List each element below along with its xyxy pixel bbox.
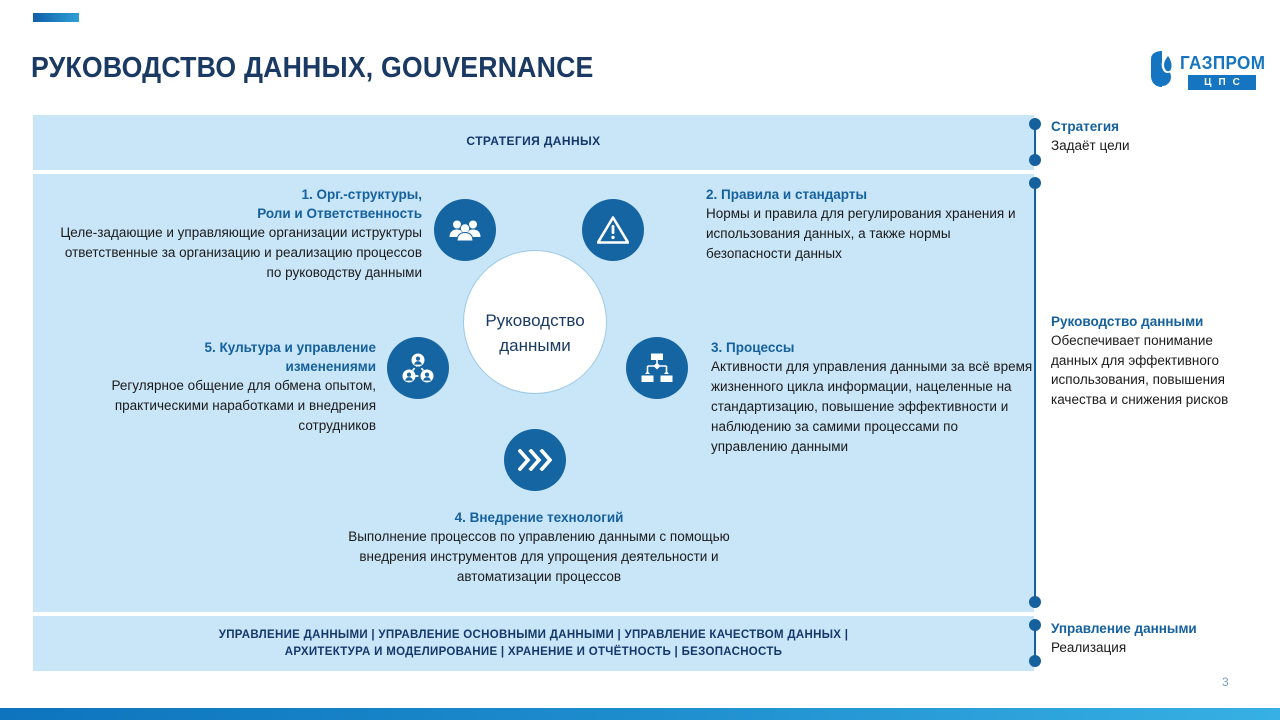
legend-governance-body: Обеспечивает понимание данных для эффект… — [1051, 331, 1261, 409]
management-band-line1: УПРАВЛЕНИЕ ДАННЫМИ | УПРАВЛЕНИЕ ОСНОВНЫМ… — [219, 629, 849, 641]
legend-strategy: Стратегия Задаёт цели — [1051, 118, 1261, 156]
rail-dot-top — [1029, 118, 1041, 130]
section-rules-standards-body: Нормы и правила для регулирования хранен… — [706, 204, 1036, 264]
legend-management-title: Управление данными — [1051, 620, 1261, 638]
rail-strategy — [1028, 118, 1042, 166]
core-label-line2: данными — [499, 336, 571, 355]
legend-strategy-title: Стратегия — [1051, 118, 1261, 136]
legend-management-body: Реализация — [1051, 638, 1261, 658]
warning-triangle-icon — [597, 216, 629, 244]
rail-line — [1034, 183, 1036, 602]
section-processes-heading: 3. Процессы — [711, 338, 1036, 357]
rail-governance — [1028, 177, 1042, 608]
slide-root: РУКОВОДСТВО ДАННЫХ, GOUVERNANCE ГАЗПРОМ … — [0, 0, 1280, 720]
legend-data-governance: Руководство данными Обеспечивает пониман… — [1051, 313, 1261, 409]
strategy-band-label: СТРАТЕГИЯ ДАННЫХ — [33, 134, 1034, 148]
section-heading-line2: изменениями — [286, 359, 376, 374]
core-label-line1: Руководство — [485, 311, 584, 330]
section-technology-body: Выполнение процессов по управлению данны… — [318, 527, 760, 587]
node-culture-change[interactable] — [387, 337, 449, 399]
section-heading-line2: Роли и Ответственность — [257, 206, 422, 221]
section-org-structures: 1. Орг.-структуры, Роли и Ответственност… — [48, 185, 422, 283]
section-rules-standards-heading: 2. Правила и стандарты — [706, 185, 1036, 204]
rail-management — [1028, 619, 1042, 667]
section-org-structures-heading: 1. Орг.-структуры, Роли и Ответственност… — [48, 185, 422, 223]
section-heading-line1: 1. Орг.-структуры, — [301, 187, 422, 202]
rail-dot-bottom — [1029, 655, 1041, 667]
section-processes: 3. Процессы Активности для управления да… — [711, 338, 1036, 457]
strategy-band: СТРАТЕГИЯ ДАННЫХ — [33, 115, 1034, 170]
people-network-icon — [402, 353, 434, 383]
logo-subbrand: ЦПС — [1188, 75, 1256, 90]
section-rules-standards: 2. Правила и стандарты Нормы и правила д… — [706, 185, 1036, 264]
accent-dash — [33, 13, 79, 22]
flowchart-icon — [641, 353, 673, 383]
people-group-icon — [449, 219, 481, 241]
legend-data-management: Управление данными Реализация — [1051, 620, 1261, 658]
legend-strategy-body: Задаёт цели — [1051, 136, 1261, 156]
rail-dot-top — [1029, 619, 1041, 631]
rail-dot-bottom — [1029, 154, 1041, 166]
section-culture-heading: 5. Культура и управление изменениями — [58, 338, 376, 376]
management-band-label: УПРАВЛЕНИЕ ДАННЫМИ | УПРАВЛЕНИЕ ОСНОВНЫМ… — [33, 627, 1034, 661]
page-title: РУКОВОДСТВО ДАННЫХ, GOUVERNANCE — [31, 52, 594, 85]
section-technology-heading: 4. Внедрение технологий — [318, 508, 760, 527]
section-processes-body: Активности для управления данными за всё… — [711, 357, 1036, 457]
management-band-line2: АРХИТЕКТУРА И МОДЕЛИРОВАНИЕ | ХРАНЕНИЕ И… — [285, 646, 783, 658]
rail-dot-bottom — [1029, 596, 1041, 608]
section-org-structures-body: Целе-задающие и управляющие организации … — [48, 223, 422, 283]
gazprom-logo: ГАЗПРОМ ЦПС — [1148, 50, 1256, 100]
node-technology-implementation[interactable] — [504, 429, 566, 491]
page-number: 3 — [1222, 675, 1229, 689]
core-circle-label: Руководство данными — [451, 308, 619, 358]
section-culture-change: 5. Культура и управление изменениями Рег… — [58, 338, 376, 436]
node-processes[interactable] — [626, 337, 688, 399]
node-org-structures[interactable] — [434, 199, 496, 261]
node-rules-standards[interactable] — [582, 199, 644, 261]
section-heading-line1: 5. Культура и управление — [204, 340, 376, 355]
management-band: УПРАВЛЕНИЕ ДАННЫМИ | УПРАВЛЕНИЕ ОСНОВНЫМ… — [33, 616, 1034, 671]
bottom-accent-bar — [0, 708, 1280, 720]
legend-governance-title: Руководство данными — [1051, 313, 1261, 331]
section-technology-implementation: 4. Внедрение технологий Выполнение проце… — [318, 508, 760, 587]
section-culture-body: Регулярное общение для обмена опытом, пр… — [58, 376, 376, 436]
chevrons-right-icon — [518, 449, 552, 471]
gazprom-flame-icon — [1148, 50, 1182, 88]
logo-wordmark: ГАЗПРОМ — [1180, 53, 1265, 74]
rail-dot-top — [1029, 177, 1041, 189]
